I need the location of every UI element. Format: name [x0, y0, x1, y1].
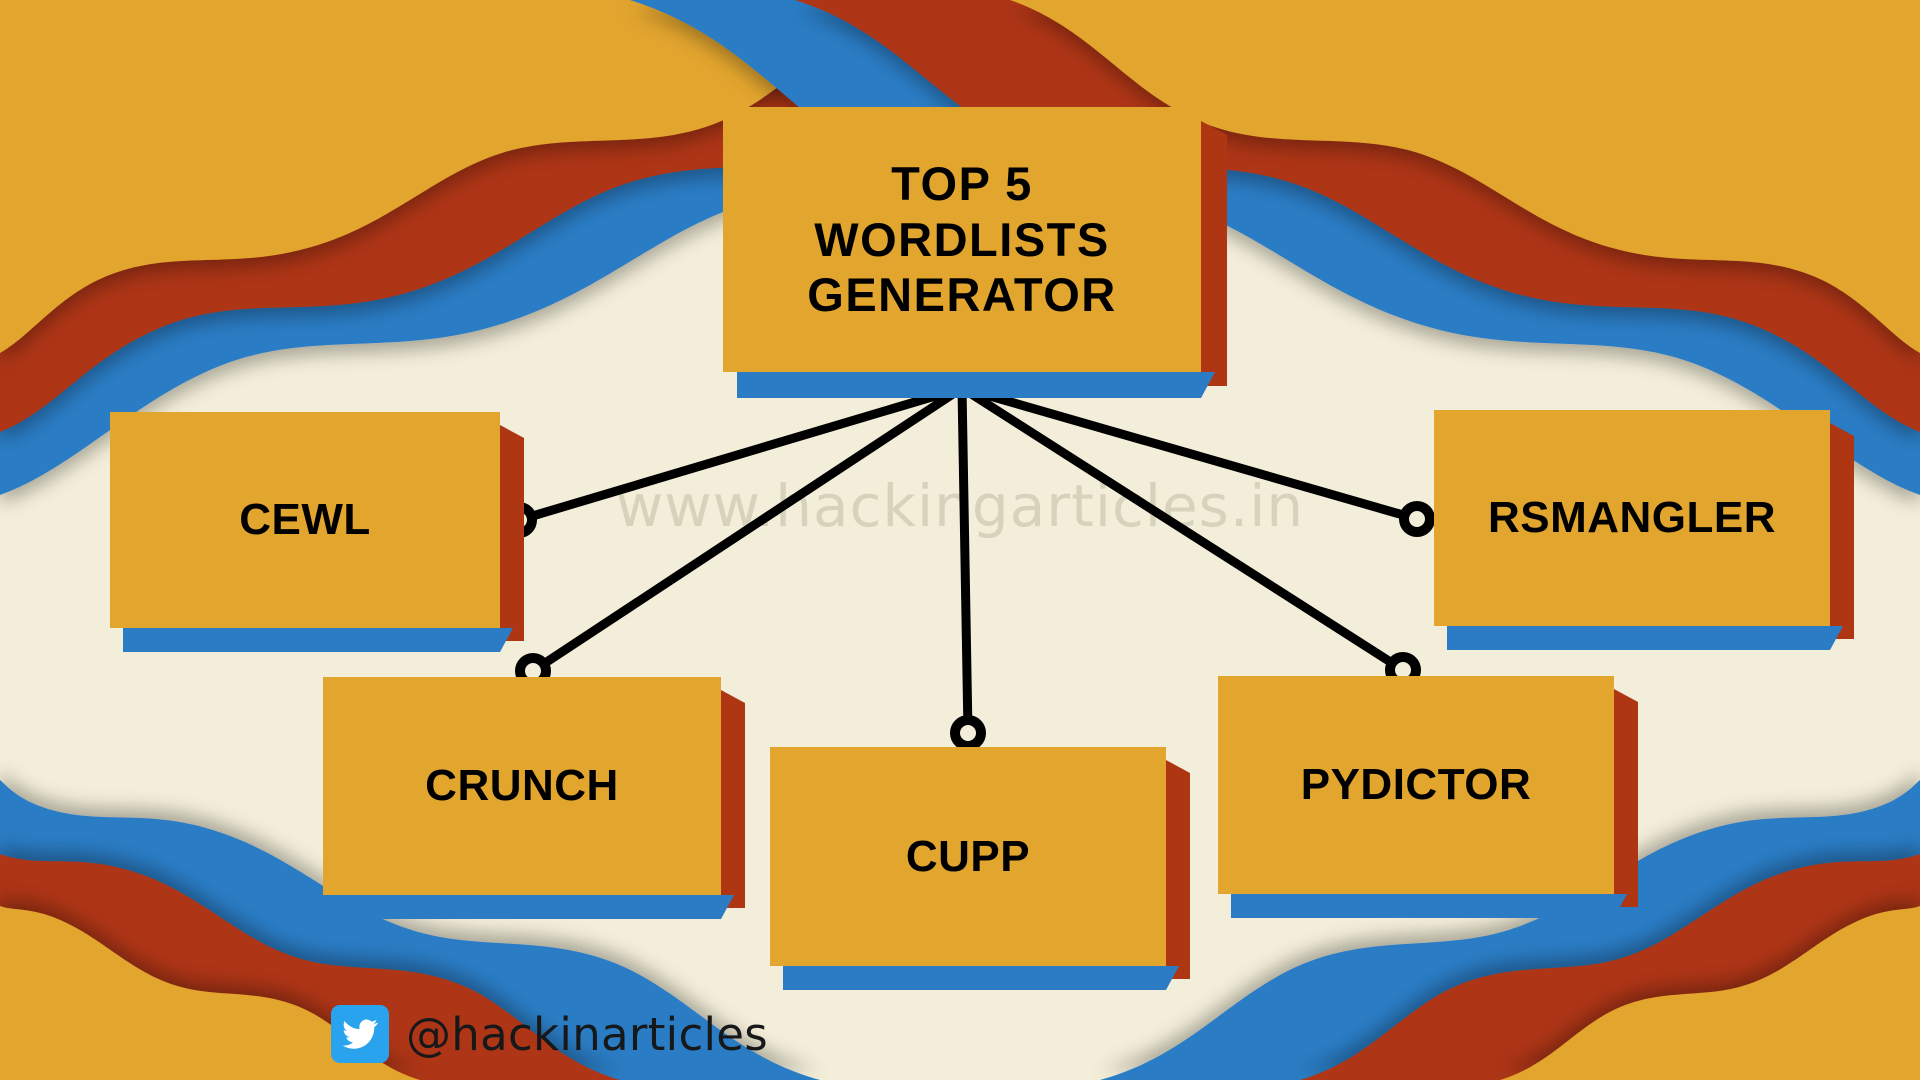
node-crunch-face: CRUNCH: [323, 677, 721, 895]
node-cupp-side-shadow: [1166, 760, 1190, 979]
twitter-handle: @hackinarticles: [406, 1008, 768, 1061]
connector-line-cupp: [962, 388, 968, 733]
node-pydictor-side-shadow: [1614, 689, 1638, 907]
node-rsmangler-face: RSMANGLER: [1434, 410, 1830, 626]
title-card-label: TOP 5 WORDLISTS GENERATOR: [807, 156, 1116, 322]
twitter-icon[interactable]: [331, 1005, 389, 1063]
connector-line-crunch: [533, 388, 962, 671]
node-cupp-face: CUPP: [770, 747, 1166, 966]
node-rsmangler-bottom-shadow: [1447, 626, 1843, 650]
node-cewl-label: CEWL: [239, 494, 371, 546]
node-cewl-side-shadow: [500, 425, 524, 641]
title-card-bottom-shadow: [737, 372, 1215, 398]
node-cupp-label: CUPP: [906, 831, 1030, 883]
node-cewl-bottom-shadow: [123, 628, 513, 652]
connector-line-rsmangler: [962, 388, 1417, 519]
node-pydictor-label: PYDICTOR: [1301, 759, 1532, 811]
footer-credit: @hackinarticles: [331, 1005, 768, 1063]
connector-node-rsmangler: [1404, 506, 1430, 532]
node-pydictor-bottom-shadow: [1231, 894, 1627, 918]
title-card-side-shadow: [1201, 121, 1227, 386]
node-rsmangler-side-shadow: [1830, 423, 1854, 639]
node-crunch-side-shadow: [721, 690, 745, 908]
node-rsmangler-label: RSMANGLER: [1488, 492, 1776, 544]
node-cewl-face: CEWL: [110, 412, 500, 628]
node-cupp-bottom-shadow: [783, 966, 1179, 990]
node-crunch[interactable]: CRUNCH: [323, 677, 721, 895]
node-crunch-bottom-shadow: [336, 895, 734, 919]
node-rsmangler[interactable]: RSMANGLER: [1434, 410, 1830, 626]
node-cewl[interactable]: CEWL: [110, 412, 500, 628]
node-crunch-label: CRUNCH: [425, 760, 619, 812]
node-cupp[interactable]: CUPP: [770, 747, 1166, 966]
connector-line-pydictor: [962, 388, 1403, 670]
title-card-face: TOP 5 WORDLISTS GENERATOR: [723, 107, 1201, 372]
node-pydictor[interactable]: PYDICTOR: [1218, 676, 1614, 894]
title-card: TOP 5 WORDLISTS GENERATOR: [723, 107, 1201, 372]
node-pydictor-face: PYDICTOR: [1218, 676, 1614, 894]
connector-line-cewl: [519, 388, 962, 520]
connector-node-cupp: [955, 720, 981, 746]
infographic-canvas: www.hackingarticles.in TOP 5 WORDLISTS G…: [0, 0, 1920, 1080]
